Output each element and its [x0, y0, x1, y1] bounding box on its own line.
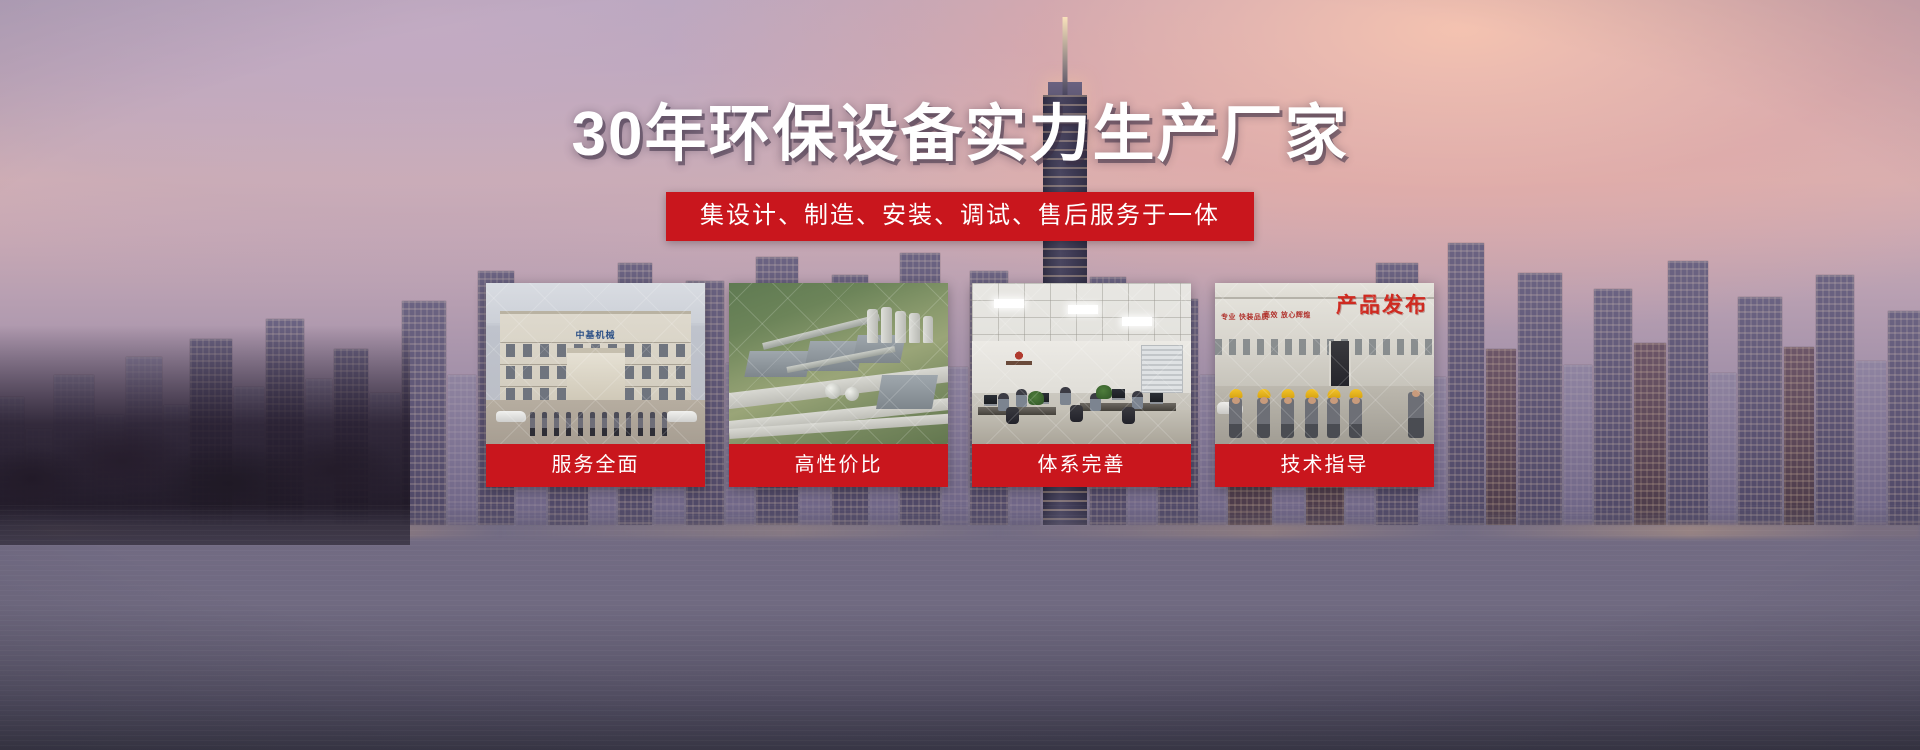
feature-card[interactable]: 中基机械 [486, 283, 705, 487]
card-caption: 服务全面 [486, 444, 705, 487]
company-office-building-photo: 中基机械 [486, 283, 705, 444]
office-interior-photo [972, 283, 1191, 444]
feature-card[interactable]: 产品发布 专业 快装品质 高效 放心辉煌 [1215, 283, 1434, 487]
hero-banner: 30年环保设备实力生产厂家 集设计、制造、安装、调试、售后服务于一体 中基机械 [0, 0, 1920, 750]
aerial-factory-plant-photo [729, 283, 948, 444]
page-title: 30年环保设备实力生产厂家 [0, 103, 1920, 166]
factory-slogan-left: 专业 快装品质 [1221, 313, 1269, 322]
feature-card[interactable]: 体系完善 [972, 283, 1191, 487]
card-caption: 体系完善 [972, 444, 1191, 487]
subtitle-container: 集设计、制造、安装、调试、售后服务于一体 [0, 192, 1920, 241]
factory-workshop-workers-photo: 产品发布 专业 快装品质 高效 放心辉煌 [1215, 283, 1434, 444]
card-caption: 技术指导 [1215, 444, 1434, 487]
subtitle-badge: 集设计、制造、安装、调试、售后服务于一体 [666, 192, 1254, 241]
feature-card[interactable]: 高性价比 [729, 283, 948, 487]
feature-card-list: 中基机械 [0, 283, 1920, 487]
factory-sign-text: 产品发布 [1336, 289, 1428, 319]
factory-slogan-right: 高效 放心辉煌 [1263, 311, 1311, 320]
card-caption: 高性价比 [729, 444, 948, 487]
building-sign-text: 中基机械 [575, 328, 615, 341]
